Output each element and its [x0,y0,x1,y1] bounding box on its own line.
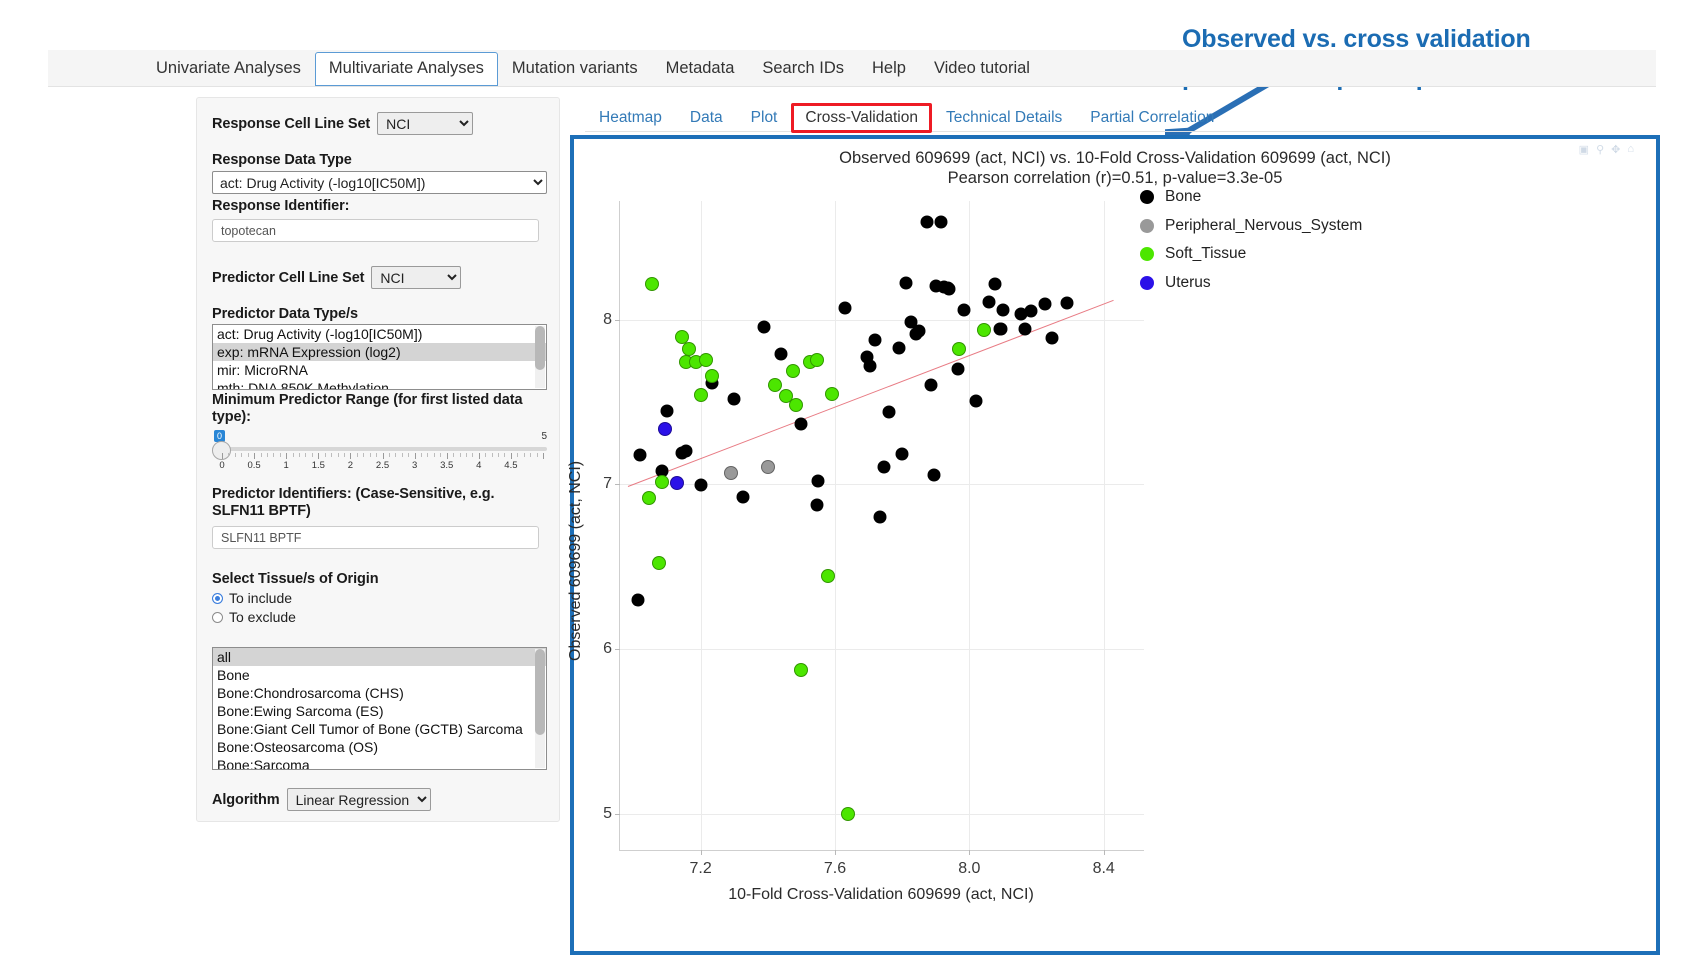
scatter-point[interactable] [634,448,647,461]
slider-ticks [212,453,547,459]
slider-tick-labels: 00.511.522.533.544.5 [212,460,547,472]
scatter-point[interactable] [841,807,855,821]
predictor-data-type-option[interactable]: mth: DNA 850K Methylation [213,379,546,390]
predictor-data-type-option[interactable]: exp: mRNA Expression (log2) [213,343,546,361]
scatter-point[interactable] [736,491,749,504]
tissue-option[interactable]: Bone:Ewing Sarcoma (ES) [213,702,546,720]
scatter-point[interactable] [899,276,912,289]
x-tick-label: 8.0 [958,860,980,878]
response-cell-line-set-row: Response Cell Line Set NCI [212,112,546,135]
parameters-panel: Response Cell Line Set NCI Response Data… [196,97,560,822]
legend-item-uterus[interactable]: Uterus [1140,272,1362,294]
scatter-point[interactable] [951,363,964,376]
radio-to-include[interactable] [212,593,223,604]
tissue-option[interactable]: Bone:Chondrosarcoma (CHS) [213,684,546,702]
scatter-point[interactable] [877,461,890,474]
scatter-point[interactable] [892,341,905,354]
scatter-point[interactable] [970,395,983,408]
scatter-point[interactable] [658,422,672,436]
predictor-cell-line-set-select[interactable]: NCI [371,266,461,289]
y-tick-label: 8 [590,311,612,329]
predictor-cell-line-set-row: Predictor Cell Line Set NCI [212,266,546,289]
predictor-cell-line-set-label: Predictor Cell Line Set [212,270,364,286]
y-tick [615,320,620,321]
scatter-point[interactable] [795,418,808,431]
nav-tab-video-tutorial[interactable]: Video tutorial [920,52,1044,86]
radio-to-exclude-label: To exclude [229,609,296,625]
scatter-point[interactable] [934,215,947,228]
scatter-point[interactable] [694,388,708,402]
scatter-point[interactable] [1018,322,1031,335]
x-tick-label: 7.6 [824,860,846,878]
predictor-identifiers-label: Predictor Identifiers: (Case-Sensitive, … [212,486,546,520]
response-cell-line-set-select[interactable]: NCI [377,112,473,135]
tissue-listbox[interactable]: all Bone Bone:Chondrosarcoma (CHS) Bone:… [212,647,547,770]
predictor-data-types-scrollbar[interactable] [535,326,545,388]
tissue-listbox-scrollbar[interactable] [535,649,545,768]
scatter-point[interactable] [958,303,971,316]
nav-tab-multivariate[interactable]: Multivariate Analyses [315,52,498,86]
scatter-point[interactable] [655,475,669,489]
predictor-data-types-label: Predictor Data Type/s [212,306,546,322]
scatter-point[interactable] [794,663,808,677]
chart-title: Observed 609699 (act, NCI) vs. 10-Fold C… [839,149,1391,167]
response-data-type-label: Response Data Type [212,152,546,168]
tissue-option[interactable]: Bone:Sarcoma [213,756,546,770]
legend-item-peripheral-nervous-system[interactable]: Peripheral_Nervous_System [1140,215,1362,237]
x-gridline [835,201,836,850]
scatter-point[interactable] [912,325,925,338]
scatter-point[interactable] [728,392,741,405]
scatter-point[interactable] [768,378,782,392]
scatter-point[interactable] [996,303,1009,316]
radio-to-exclude[interactable] [212,612,223,623]
chart-legend: Bone Peripheral_Nervous_System Soft_Tiss… [1140,186,1362,300]
scatter-point[interactable] [761,460,775,474]
y-gridline [620,814,1144,815]
scatter-point[interactable] [995,322,1008,335]
y-tick-label: 6 [590,640,612,658]
scatter-point[interactable] [869,334,882,347]
scatter-point[interactable] [724,466,738,480]
nav-tab-help[interactable]: Help [858,52,920,86]
subtab-data[interactable]: Data [676,104,737,132]
radio-to-include-label: To include [229,590,292,606]
scatter-point[interactable] [928,469,941,482]
scatter-point[interactable] [812,475,825,488]
scatter-point[interactable] [786,364,800,378]
scatter-point[interactable] [977,323,991,337]
response-cell-line-set-label: Response Cell Line Set [212,116,370,132]
scatter-point[interactable] [661,405,674,418]
x-tick [969,850,970,855]
scatter-point[interactable] [988,278,1001,291]
y-tick [615,484,620,485]
x-axis-title: 10-Fold Cross-Validation 609699 (act, NC… [619,886,1143,904]
scatter-point[interactable] [839,302,852,315]
algorithm-label: Algorithm [212,792,280,808]
legend-label: Bone [1165,188,1201,206]
scatter-point[interactable] [864,359,877,372]
algorithm-row: Algorithm Linear Regression [212,788,546,811]
nav-tab-search-ids[interactable]: Search IDs [748,52,858,86]
chart-subtitle: Pearson correlation (r)=0.51, p-value=3.… [574,168,1656,188]
legend-color-swatch [1140,190,1154,204]
tissue-option[interactable]: Bone [213,666,546,684]
scatter-point[interactable] [882,405,895,418]
cross-validation-plot-panel: ▣ ⚲ ✥ ⌂ Observed 609699 (act, NCI) vs. 1… [570,135,1660,955]
minimum-predictor-range-slider[interactable]: 0 5 00.511.522.533.544.5 [212,430,547,474]
y-tick-label: 5 [590,805,612,823]
scatter-point[interactable] [642,491,656,505]
tissue-option[interactable]: Bone:Giant Cell Tumor of Bone (GCTB) Sar… [213,720,546,738]
predictor-identifiers-input[interactable] [212,526,539,549]
slider-track[interactable] [212,447,547,451]
x-tick [701,850,702,855]
legend-label: Uterus [1165,274,1211,292]
legend-color-swatch [1140,247,1154,261]
subtab-heatmap[interactable]: Heatmap [585,104,676,132]
response-data-type-select[interactable]: act: Drug Activity (-log10[IC50M]) [212,171,547,194]
scatter-point[interactable] [758,321,771,334]
scatter-point[interactable] [679,444,692,457]
nav-tab-metadata[interactable]: Metadata [652,52,749,86]
tissue-option[interactable]: all [213,648,546,666]
x-gridline [1104,201,1105,850]
y-tick [615,649,620,650]
predictor-data-types-listbox[interactable]: act: Drug Activity (-log10[IC50M]) exp: … [212,324,547,390]
scatter-point[interactable] [825,387,839,401]
annotation-line-1: Observed vs. cross validation [1182,25,1531,53]
nav-tab-univariate[interactable]: Univariate Analyses [142,52,315,86]
x-tick [835,850,836,855]
scatter-point[interactable] [1045,331,1058,344]
scatter-point[interactable] [1060,297,1073,310]
y-tick [615,814,620,815]
slider-max-label: 5 [541,431,547,442]
x-tick [1104,850,1105,855]
tissue-exclude-radio-row[interactable]: To exclude [212,609,546,625]
y-axis-title: Observed 609699 (act, NCI) [567,460,585,660]
legend-color-swatch [1140,219,1154,233]
x-gridline [969,201,970,850]
scatter-point[interactable] [810,353,824,367]
main-tab-list: Univariate Analyses Multivariate Analyse… [142,52,1044,86]
scatter-point[interactable] [670,476,684,490]
legend-item-bone[interactable]: Bone [1140,186,1362,208]
subtab-cross-validation[interactable]: Cross-Validation [791,103,932,133]
legend-item-soft-tissue[interactable]: Soft_Tissue [1140,243,1362,265]
scatter-plot-area[interactable]: 7.27.68.08.45678 [619,201,1144,851]
legend-color-swatch [1140,276,1154,290]
scatter-point[interactable] [694,479,707,492]
scatter-point[interactable] [775,348,788,361]
subtab-plot[interactable]: Plot [737,104,792,132]
subtab-partial-correlation[interactable]: Partial Correlation [1076,104,1228,132]
scatter-point[interactable] [705,369,719,383]
scatter-point[interactable] [1038,297,1051,310]
app-root: Observed vs. cross validation predicted … [0,0,1700,956]
x-tick-label: 7.2 [689,860,711,878]
scatter-point[interactable] [943,283,956,296]
scatter-point[interactable] [921,215,934,228]
predictor-data-type-option[interactable]: mir: MicroRNA [213,361,546,379]
scatter-point[interactable] [1025,305,1038,318]
scatter-point[interactable] [652,556,666,570]
x-tick-label: 8.4 [1093,860,1115,878]
scatter-point[interactable] [952,342,966,356]
predictor-data-type-option[interactable]: act: Drug Activity (-log10[IC50M]) [213,325,546,343]
chart-title-block: Observed 609699 (act, NCI) vs. 10-Fold C… [574,148,1656,188]
legend-label: Soft_Tissue [1165,245,1246,263]
scatter-point[interactable] [874,511,887,524]
tissue-selection-label: Select Tissue/s of Origin [212,571,546,587]
tissue-include-radio-row[interactable]: To include [212,590,546,606]
scatter-point[interactable] [821,569,835,583]
response-identifier-label: Response Identifier: [212,198,546,214]
scatter-point[interactable] [789,398,803,412]
legend-label: Peripheral_Nervous_System [1165,217,1362,235]
x-gridline [701,201,702,850]
response-identifier-input[interactable] [212,219,539,242]
scatter-point[interactable] [896,447,909,460]
y-gridline [620,649,1144,650]
result-tab-list: Heatmap Data Plot Cross-Validation Techn… [585,103,1228,133]
scatter-point[interactable] [699,353,713,367]
nav-tab-mutation-variants[interactable]: Mutation variants [498,52,652,86]
algorithm-select[interactable]: Linear Regression [287,788,431,811]
y-tick-label: 7 [590,475,612,493]
scatter-point[interactable] [645,277,659,291]
scatter-point[interactable] [632,593,645,606]
minimum-predictor-range-label: Minimum Predictor Range (for first liste… [212,392,546,426]
subtab-technical-details[interactable]: Technical Details [932,104,1076,132]
tissue-option[interactable]: Bone:Osteosarcoma (OS) [213,738,546,756]
scatter-point[interactable] [810,498,823,511]
scatter-point[interactable] [924,379,937,392]
y-gridline [620,320,1144,321]
scatter-point[interactable] [983,296,996,309]
